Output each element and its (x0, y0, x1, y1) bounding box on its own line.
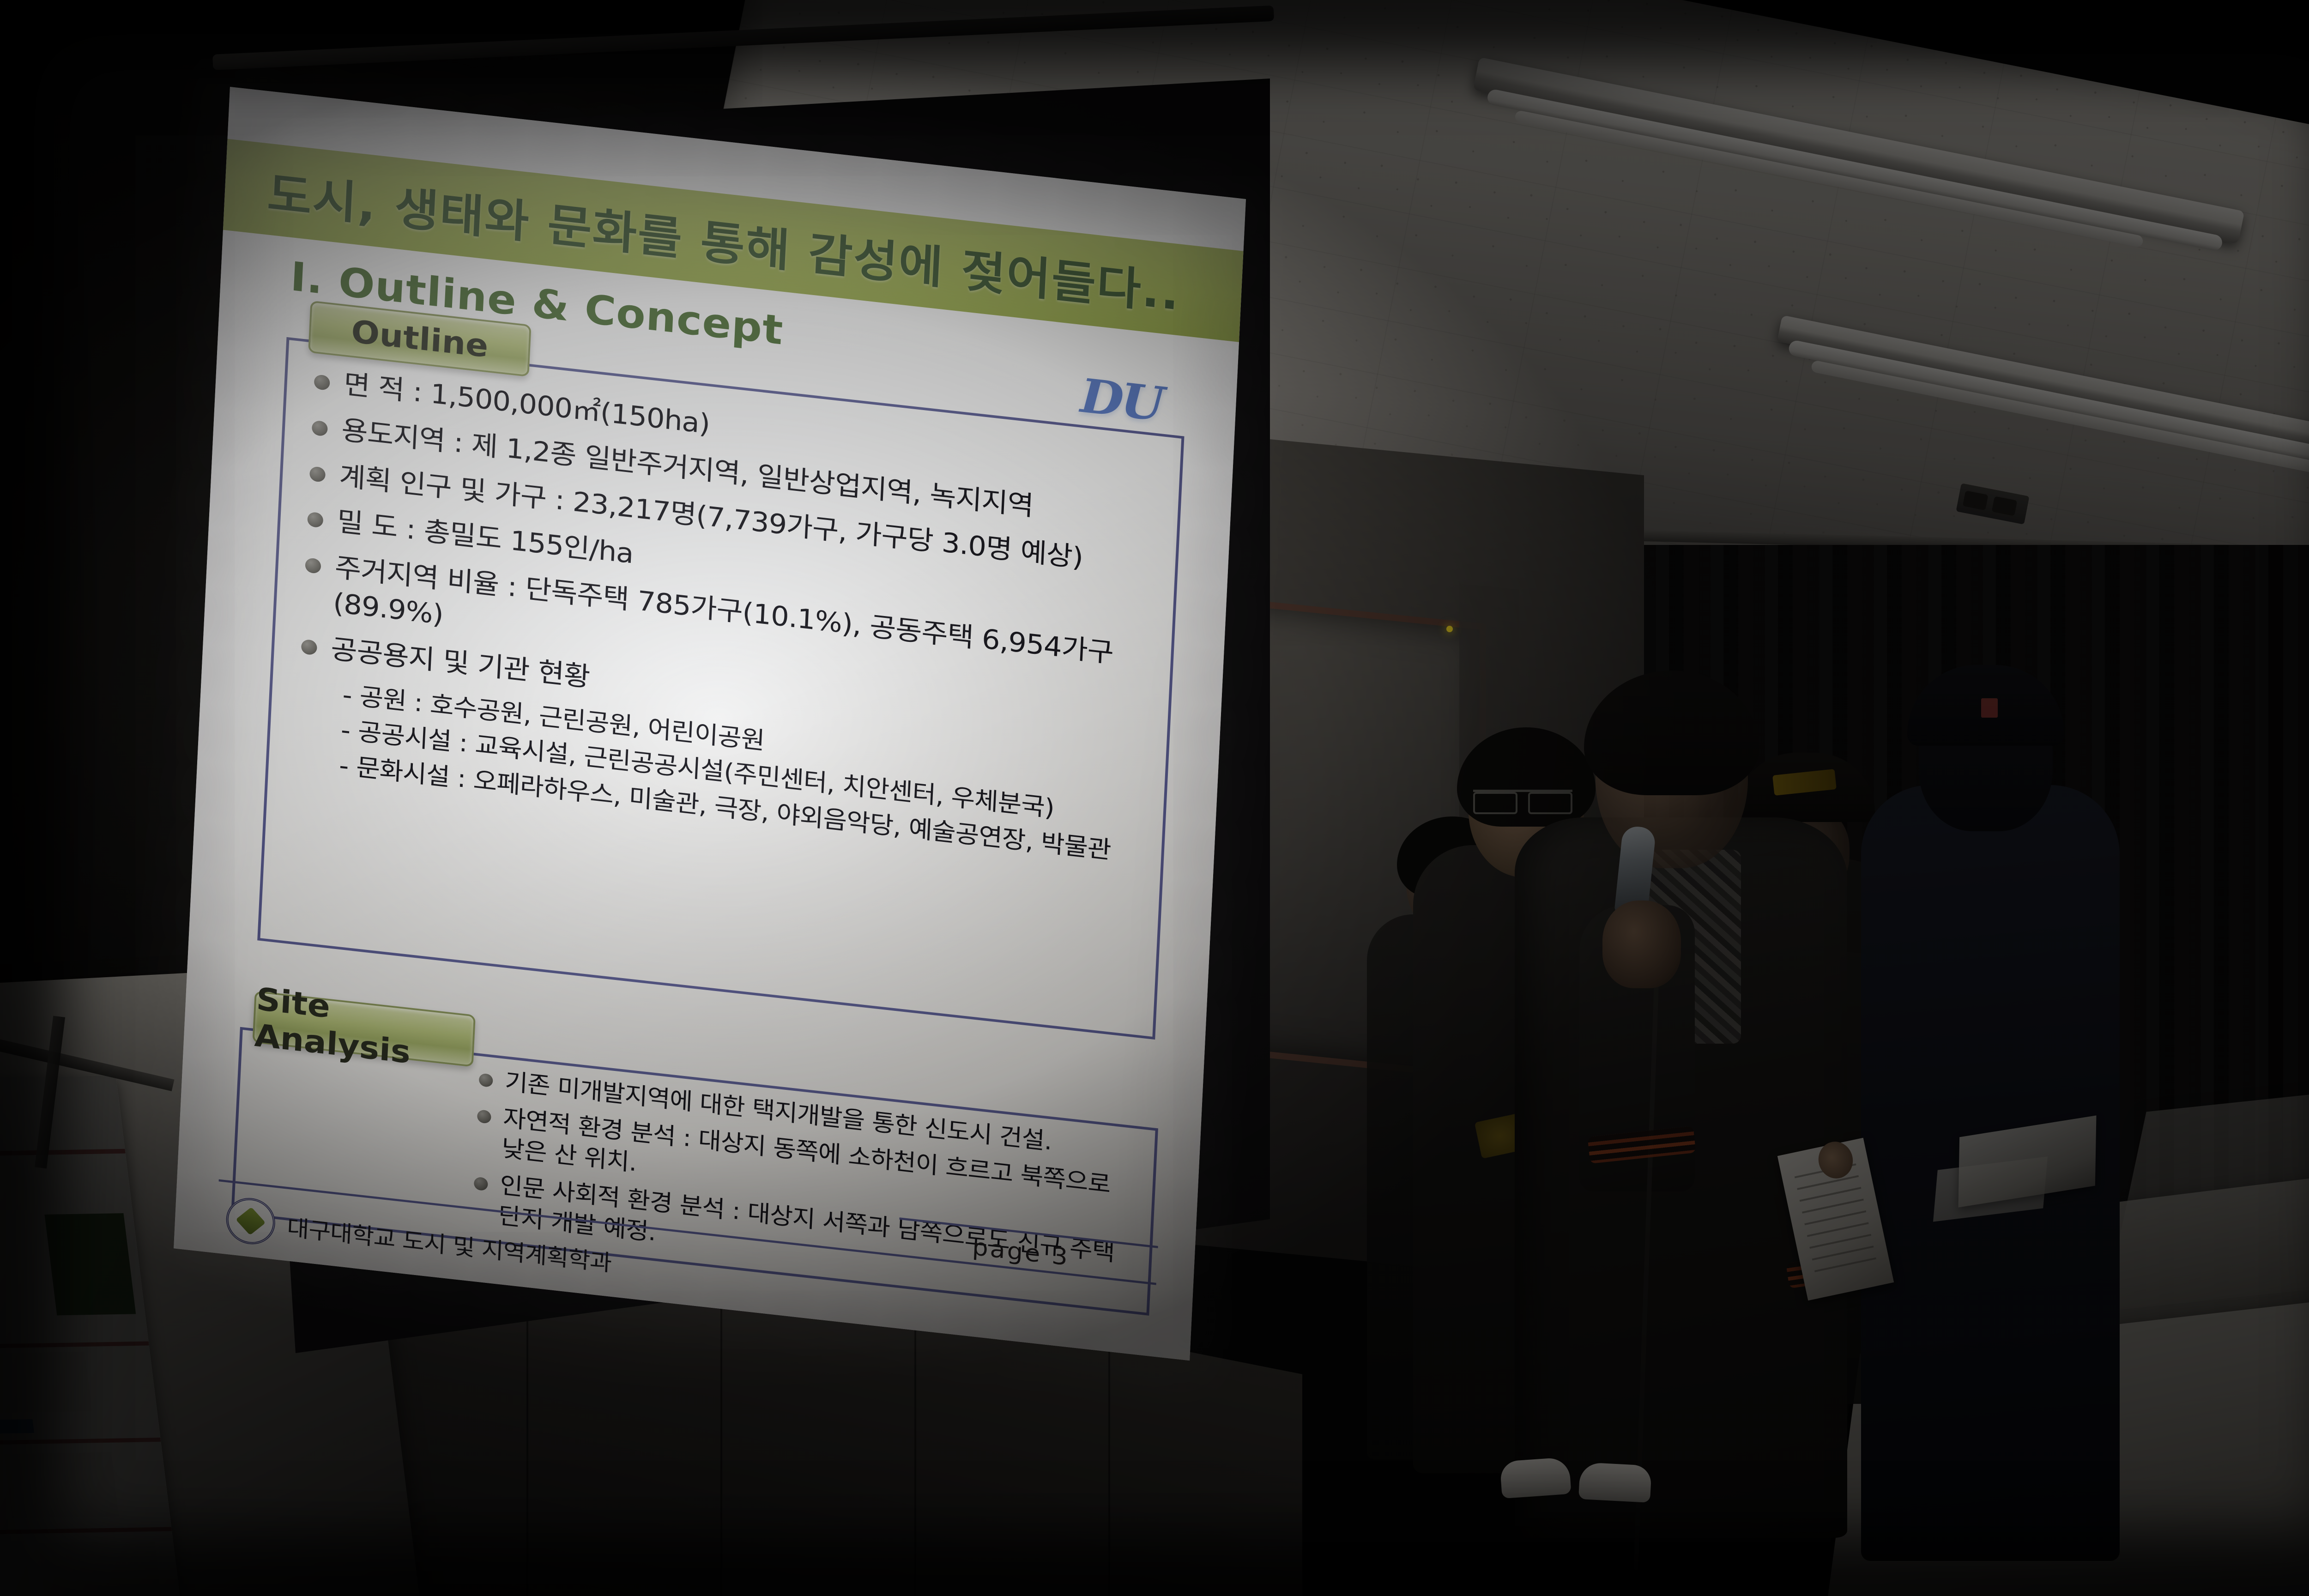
dash-icon: - (338, 749, 350, 783)
du-logo: DU (1079, 369, 1163, 432)
indicator-light-icon (1446, 626, 1453, 632)
seal-diamond (236, 1207, 266, 1235)
university-seal-icon (225, 1196, 276, 1247)
presenter-hand (1602, 901, 1681, 988)
dash-icon: - (342, 678, 353, 712)
bullet-dot-icon (312, 420, 328, 437)
glasses-icon (1473, 790, 1572, 812)
cap-logo (1981, 698, 1998, 718)
tab-site-analysis: Site Analysis (252, 991, 475, 1067)
projected-slide: 도시, 생태와 문화를 통해 감성에 젖어들다.. Ⅰ. Outline & C… (174, 87, 1246, 1360)
handout-text-lines (1794, 1163, 1877, 1275)
bullet-dot-icon (474, 1176, 488, 1191)
shoe (1499, 1457, 1571, 1499)
bullet-dot-icon (301, 639, 318, 656)
bullet-dot-icon (305, 557, 321, 574)
photo-scene: 도시, 생태와 문화를 통해 감성에 젖어들다.. Ⅰ. Outline & C… (0, 0, 2309, 1596)
bullet-dot-icon (309, 466, 326, 483)
dash-icon: - (340, 713, 351, 747)
shoe (1578, 1462, 1652, 1503)
bullet-dot-icon (479, 1073, 493, 1087)
bullet-dot-icon (314, 374, 330, 391)
tab-outline-label: Outline (351, 313, 489, 365)
bullet-dot-icon (477, 1109, 491, 1124)
bullet-dot-icon (307, 512, 324, 528)
